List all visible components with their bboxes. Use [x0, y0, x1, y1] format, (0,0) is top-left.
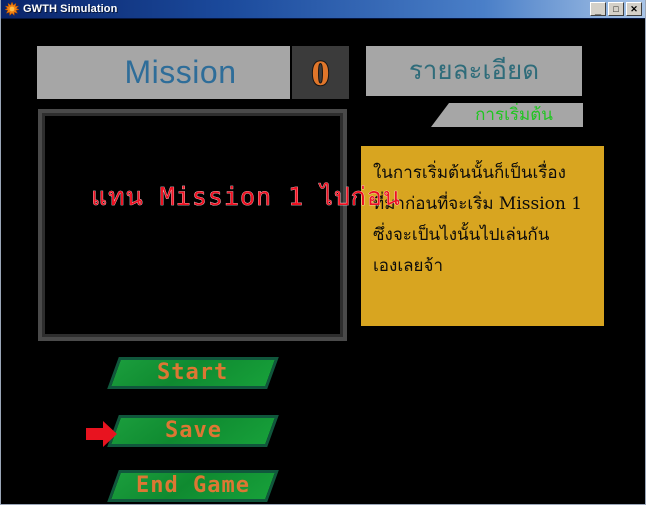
end-game-button-label: End Game — [136, 474, 250, 498]
details-header: รายละเอียด — [366, 46, 582, 96]
sun-burst-icon — [5, 2, 19, 16]
maximize-button[interactable]: □ — [608, 2, 624, 16]
app-content: Mission 0 รายละเอียด การเริ่มต้น ในการเร… — [1, 19, 645, 503]
save-button-label: Save — [165, 419, 222, 443]
close-button[interactable]: ✕ — [626, 2, 642, 16]
window-controls: _ □ ✕ — [590, 2, 642, 16]
tab-getting-started-label: การเริ่มต้น — [461, 105, 553, 125]
mission-title: Mission — [85, 54, 243, 91]
end-game-button[interactable]: End Game — [107, 470, 279, 502]
info-line: เองเลยจ้า — [373, 251, 594, 282]
minimize-icon: _ — [591, 4, 605, 16]
save-button[interactable]: Save — [107, 415, 279, 447]
application-window: GWTH Simulation _ □ ✕ Mission 0 รายละเอี… — [0, 0, 646, 505]
display-panel — [38, 109, 347, 341]
mission-header: Mission — [37, 46, 290, 99]
tab-getting-started[interactable]: การเริ่มต้น — [431, 103, 583, 127]
info-panel: ในการเริ่มต้นนั้นก็เป็นเรื่อง ที่มาก่อนท… — [361, 146, 604, 326]
maximize-icon: □ — [609, 3, 623, 15]
title-bar[interactable]: GWTH Simulation _ □ ✕ — [1, 0, 645, 19]
info-line: ในการเริ่มต้นนั้นก็เป็นเรื่อง — [373, 158, 594, 189]
details-title: รายละเอียด — [409, 56, 539, 86]
start-button[interactable]: Start — [107, 357, 279, 389]
minimize-button[interactable]: _ — [590, 2, 606, 16]
window-title: GWTH Simulation — [23, 3, 590, 15]
start-button-label: Start — [157, 361, 228, 385]
info-line: ซึ่งจะเป็นไงนั้นไปเล่นกัน — [373, 220, 594, 251]
mission-number-box: 0 — [292, 46, 349, 99]
close-icon: ✕ — [627, 3, 641, 15]
display-panel-inner — [42, 113, 343, 337]
mission-number: 0 — [312, 53, 330, 93]
red-arrow-cursor — [86, 420, 118, 448]
info-line: ที่มาก่อนที่จะเริ่ม Mission 1 — [373, 189, 594, 220]
